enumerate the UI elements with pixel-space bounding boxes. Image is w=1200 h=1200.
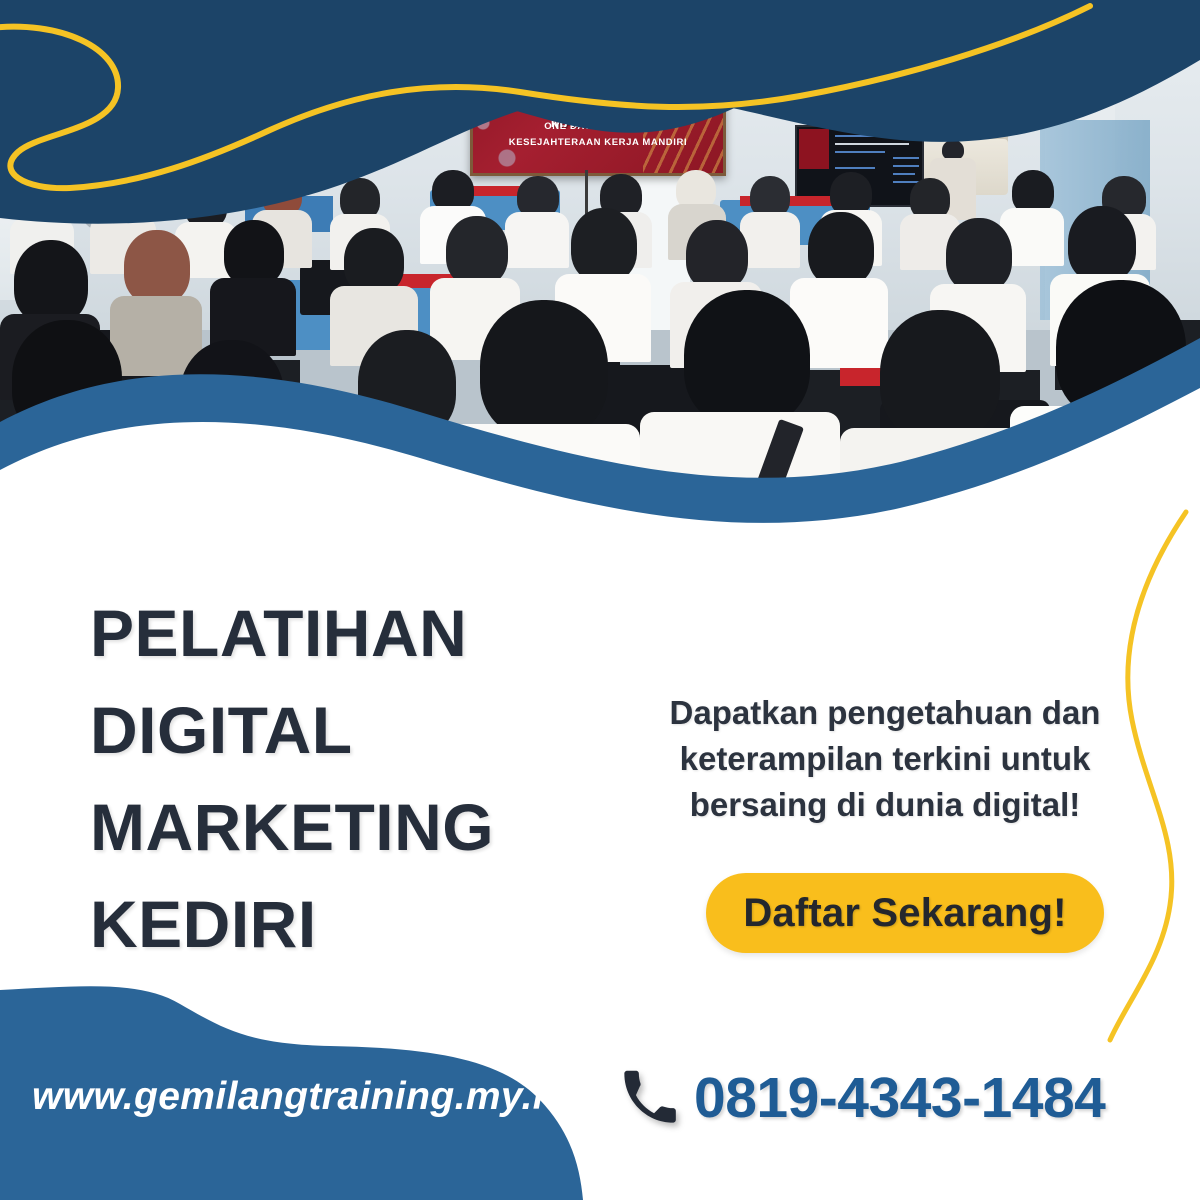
wall-speaker-icon [1045, 0, 1087, 40]
poster-canvas: DINAS PENDIDIKAN KABUPATEN KEDIRI PELATI… [0, 0, 1200, 1200]
contact-phone[interactable]: 0819-4343-1484 [620, 1065, 1105, 1131]
event-photo: DINAS PENDIDIKAN KABUPATEN KEDIRI PELATI… [0, 0, 1200, 520]
page-title: PELATIHAN DIGITAL MARKETING KEDIRI [90, 585, 610, 973]
subtext-line-1: Dapatkan pengetahuan dan [625, 690, 1145, 736]
banner-subtitle-2: KESEJAHTERAAN KERJA MANDIRI [473, 137, 723, 148]
government-crest-icon [541, 63, 557, 83]
subheadline: Dapatkan pengetahuan dan keterampilan te… [625, 690, 1145, 828]
org-line: KEDIRI [561, 79, 595, 85]
headline-line-1: PELATIHAN [90, 585, 610, 682]
headline-line-3: MARKETING [90, 779, 610, 876]
subtext-line-2: keterampilan terkini untuk [625, 736, 1145, 782]
exit-sign-icon [250, 105, 298, 131]
subtext-line-3: bersaing di dunia digital! [625, 782, 1145, 828]
banner-subtitle-1: ONE DAY TRAINING : [473, 121, 723, 132]
headline-line-4: KEDIRI [90, 876, 610, 973]
phone-handset-icon [620, 1069, 678, 1127]
phone-number: 0819-4343-1484 [694, 1065, 1105, 1131]
stage-banner: DINAS PENDIDIKAN KABUPATEN KEDIRI PELATI… [470, 50, 726, 176]
banner-org-name: DINAS PENDIDIKAN KABUPATEN KEDIRI [561, 62, 595, 84]
website-url[interactable]: www.gemilangtraining.my.id [32, 1075, 568, 1119]
register-button[interactable]: Daftar Sekarang! [706, 873, 1104, 953]
audience-crowd [0, 170, 1200, 520]
headline-line-2: DIGITAL [90, 682, 610, 779]
